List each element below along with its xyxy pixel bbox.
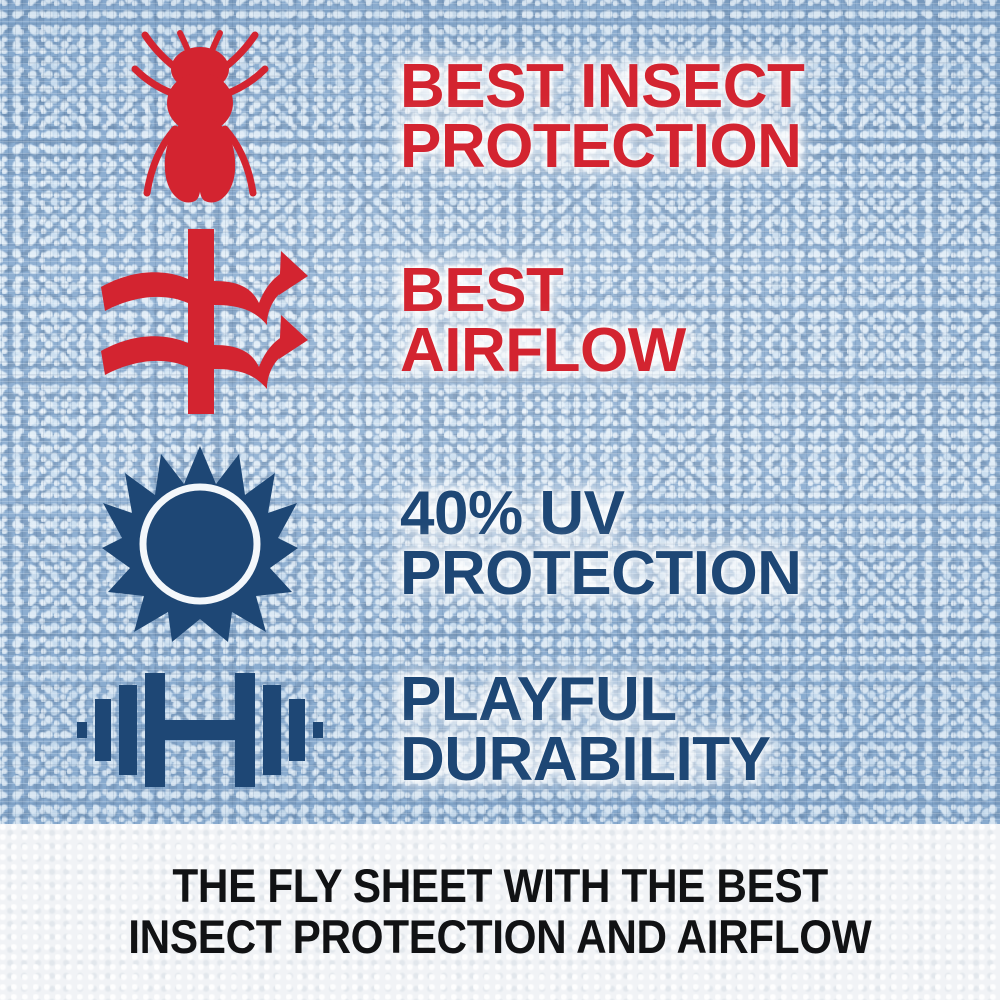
feature-row-durability: PLAYFUL DURABILITY: [0, 650, 1000, 810]
feature-row-airflow: BEST AIRFLOW: [0, 222, 1000, 420]
feature-row-uv-protection: 40% UV PROTECTION: [0, 438, 1000, 650]
feature-label-insect-protection: BEST INSECT PROTECTION: [400, 57, 982, 177]
feature-list: BEST INSECT PROTECTION: [0, 0, 1000, 824]
airflow-arrows-icon: [93, 229, 308, 414]
feature-text-cell: 40% UV PROTECTION: [400, 484, 1000, 604]
product-feature-infographic: BEST INSECT PROTECTION: [0, 0, 1000, 1000]
feature-label-uv-protection: 40% UV PROTECTION: [400, 484, 982, 604]
dumbbell-icon: [75, 665, 325, 795]
feature-label-durability: PLAYFUL DURABILITY: [400, 670, 982, 790]
feature-icon-cell: [0, 25, 400, 210]
caption-line-2: INSECT PROTECTION AND AIRFLOW: [128, 912, 871, 963]
feature-label-airflow: BEST AIRFLOW: [400, 261, 982, 381]
sun-icon: [100, 444, 300, 644]
caption-bar: THE FLY SHEET WITH THE BEST INSECT PROTE…: [0, 824, 1000, 1000]
feature-icon-cell: [0, 665, 400, 795]
fly-icon: [125, 25, 275, 210]
feature-icon-cell: [0, 444, 400, 644]
feature-text-cell: BEST AIRFLOW: [400, 261, 1000, 381]
feature-text-cell: PLAYFUL DURABILITY: [400, 670, 1000, 790]
caption-line-1: THE FLY SHEET WITH THE BEST: [172, 861, 827, 912]
feature-row-insect-protection: BEST INSECT PROTECTION: [0, 22, 1000, 212]
feature-icon-cell: [0, 229, 400, 414]
feature-text-cell: BEST INSECT PROTECTION: [400, 57, 1000, 177]
